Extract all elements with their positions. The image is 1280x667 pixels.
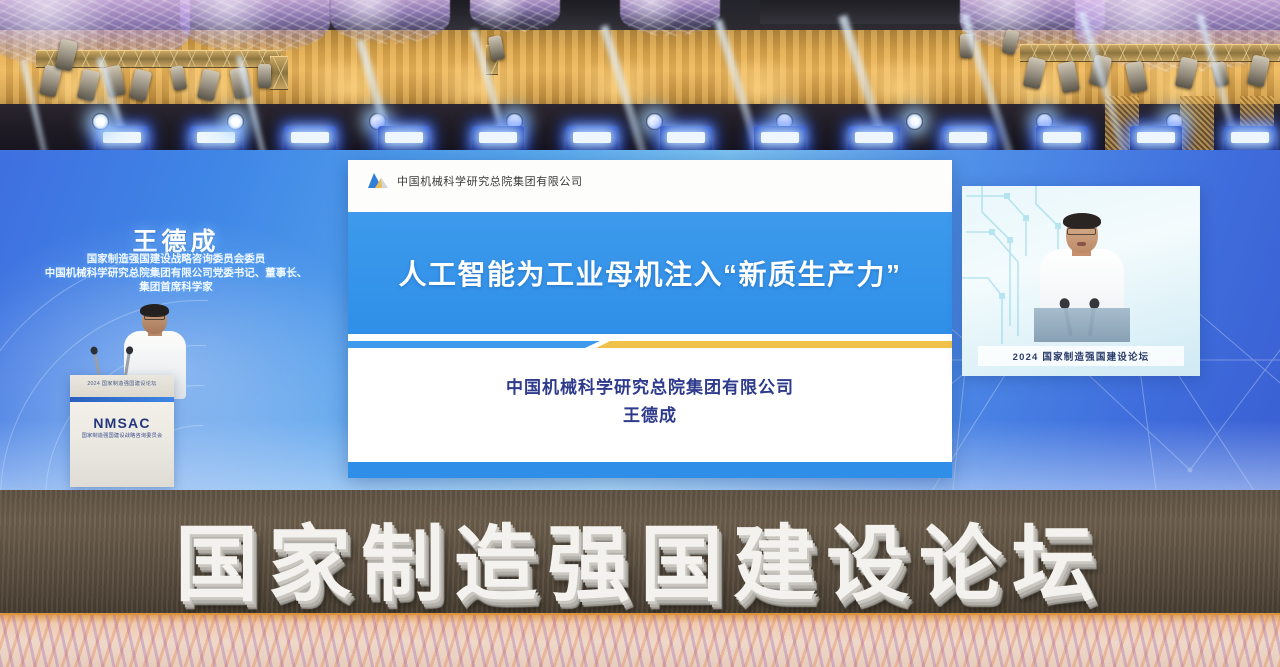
video-speaker-hair xyxy=(1063,213,1101,229)
slide-divider xyxy=(348,341,952,348)
company-logo: 中国机械科学研究总院集团有限公司 xyxy=(368,172,583,189)
spotlight-fixture xyxy=(258,64,271,88)
slide-title: 人工智能为工业母机注入“新质生产力” xyxy=(348,212,952,334)
mountain-triangle-icon xyxy=(368,172,390,189)
slide-title-band: 人工智能为工业母机注入“新质生产力” xyxy=(348,212,952,334)
divider-gold-segment xyxy=(596,341,952,348)
glasses-icon xyxy=(1067,228,1096,235)
podium-logo-text: NMSAC xyxy=(70,415,174,431)
speaker-title-line: 中国机械科学研究总院集团有限公司党委书记、董事长、 xyxy=(8,266,344,280)
divider-blue-segment xyxy=(348,341,600,348)
presentation-slide: 中国机械科学研究总院集团有限公司 人工智能为工业母机注入“新质生产力” 中国机械… xyxy=(348,160,952,478)
lighting-truss xyxy=(1020,44,1280,62)
slide-subtitle-name: 王德成 xyxy=(348,402,952,430)
podium-sub-text: 国家制造强国建设战略咨询委员会 xyxy=(70,432,174,439)
slide-subtitle-org: 中国机械科学研究总院集团有限公司 xyxy=(348,374,952,402)
podium: 2024 国家制造强国建设论坛 NMSAC 国家制造强国建设战略咨询委员会 xyxy=(70,375,174,487)
video-speaker-mouth xyxy=(1077,242,1086,246)
podium-top-text: 2024 国家制造强国建设论坛 xyxy=(70,380,174,387)
slide-subtitle: 中国机械科学研究总院集团有限公司 王德成 xyxy=(348,374,952,430)
glasses-icon xyxy=(144,315,165,320)
company-logo-text: 中国机械科学研究总院集团有限公司 xyxy=(397,173,583,189)
stage-lettering: 国家制造强国建设论坛 xyxy=(0,497,1280,617)
video-caption: 2024 国家制造强国建设论坛 xyxy=(978,346,1184,366)
speaker-title-line: 集团首席科学家 xyxy=(8,280,344,294)
stage-light-bar xyxy=(0,118,1280,152)
spotlight-fixture xyxy=(960,34,973,58)
speaker-video-panel: 2024 国家制造强国建设论坛 xyxy=(962,186,1200,376)
truss-riser xyxy=(270,56,288,90)
podium-stripe xyxy=(70,397,174,402)
slide-header: 中国机械科学研究总院集团有限公司 xyxy=(348,160,952,212)
stage-scene: 王德成 国家制造强国建设战略咨询委员会委员 中国机械科学研究总院集团有限公司党委… xyxy=(0,0,1280,667)
speaker-title-line: 国家制造强国建设战略咨询委员会委员 xyxy=(8,252,344,266)
carpet-floor xyxy=(0,615,1280,667)
video-podium xyxy=(1034,308,1130,342)
slide-footer-bar xyxy=(348,462,952,478)
speaker-titles: 国家制造强国建设战略咨询委员会委员 中国机械科学研究总院集团有限公司党委书记、董… xyxy=(8,252,344,294)
